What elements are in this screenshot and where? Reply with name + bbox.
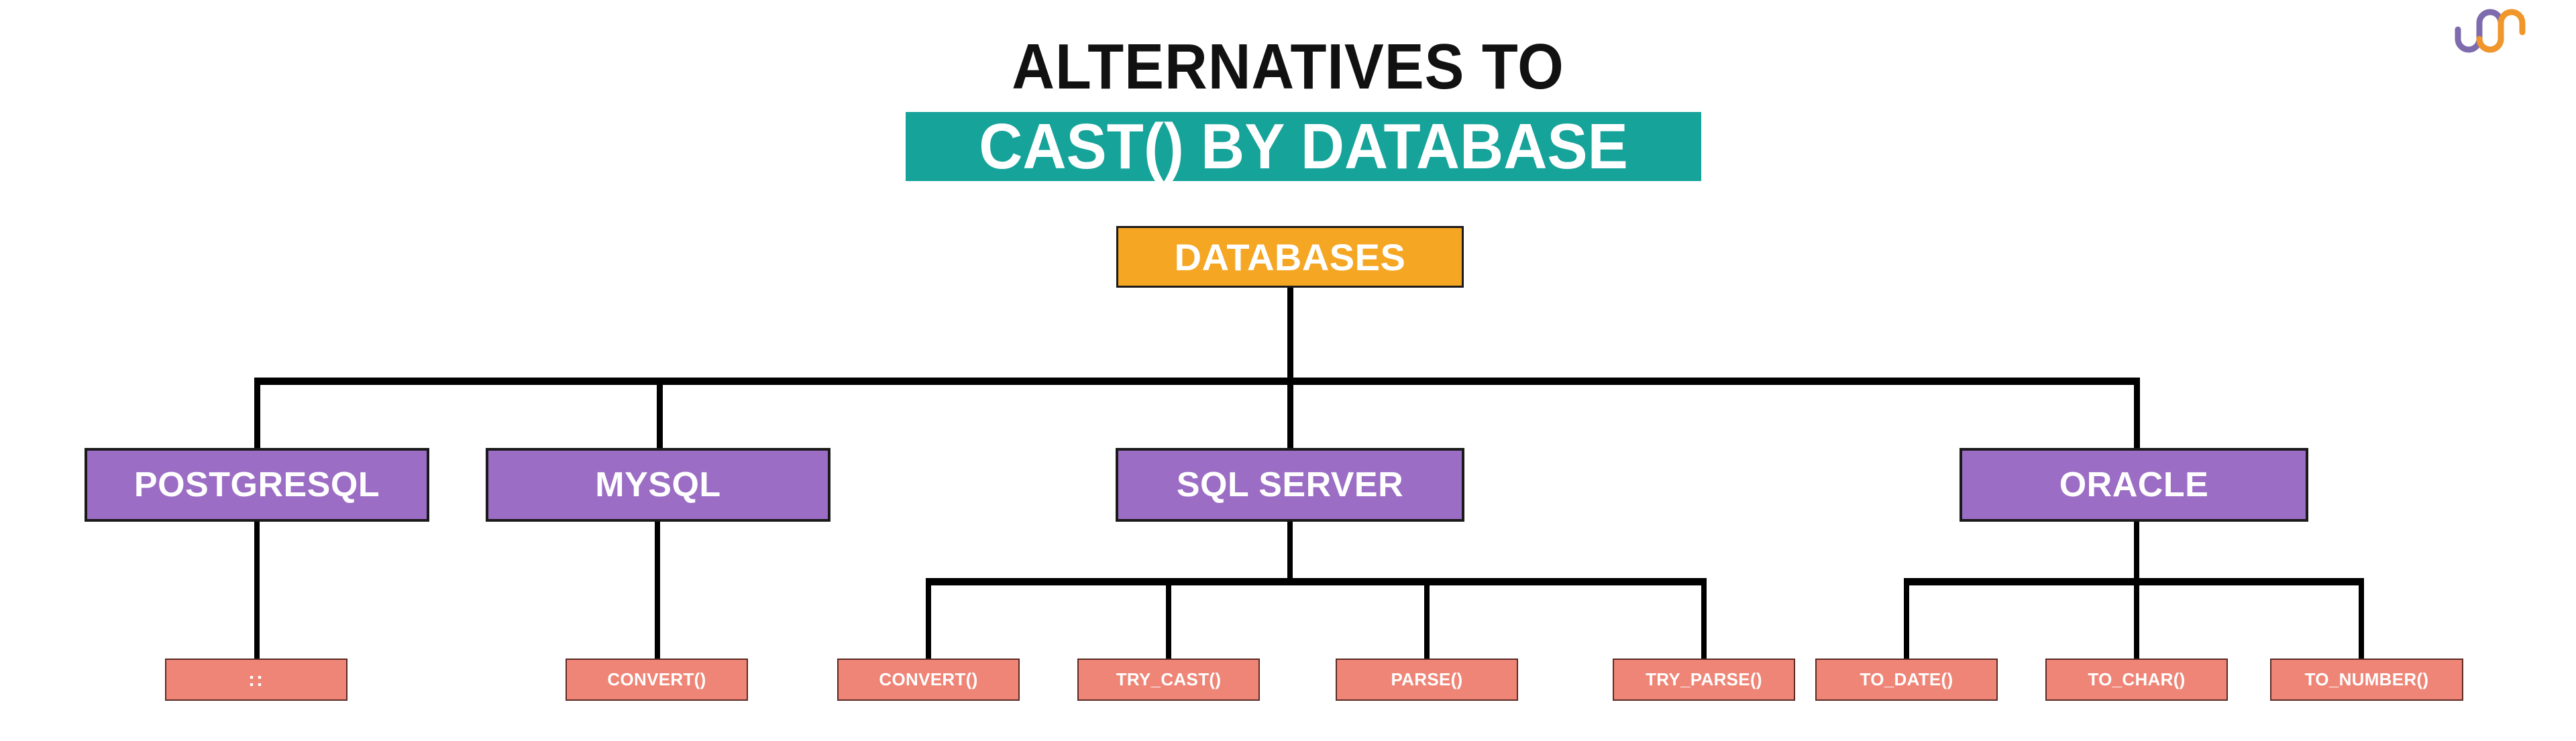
node-sqlserver[interactable]: SQL SERVER (1116, 448, 1464, 522)
node-databases[interactable]: DATABASES (1116, 226, 1464, 288)
connector-drop-oracle-to-number (2359, 578, 2364, 659)
connector-drop-mysql (657, 378, 663, 450)
node-postgresql[interactable]: POSTGRESQL (85, 448, 429, 522)
leaf-postgresql-cast-operator[interactable]: :: (165, 659, 347, 701)
leaf-sqlserver-try-cast-label: TRY_CAST() (1116, 669, 1222, 690)
connector-drop-postgresql (254, 378, 260, 450)
node-postgresql-label: POSTGRESQL (134, 465, 380, 505)
leaf-oracle-to-date[interactable]: TO_DATE() (1815, 659, 1998, 701)
node-oracle-label: ORACLE (2059, 465, 2209, 505)
node-oracle[interactable]: ORACLE (1960, 448, 2308, 522)
connector-drop-sqlserver (1287, 378, 1293, 450)
diagram-canvas: ALTERNATIVES TO CAST() BY DATABASE DATAB… (0, 0, 2576, 741)
leaf-sqlserver-parse[interactable]: PARSE() (1336, 659, 1518, 701)
leaf-oracle-to-char[interactable]: TO_CHAR() (2045, 659, 2228, 701)
connector-main-bus (257, 378, 2137, 385)
connector-root-stem (1287, 288, 1293, 382)
leaf-sqlserver-convert[interactable]: CONVERT() (837, 659, 1020, 701)
title-highlight-bar: CAST() BY DATABASE (906, 112, 1701, 181)
connector-drop-oracle-to-date (1904, 578, 1909, 659)
brand-logo-icon (2451, 7, 2526, 55)
leaf-mysql-convert[interactable]: CONVERT() (566, 659, 748, 701)
node-sqlserver-label: SQL SERVER (1177, 465, 1403, 505)
connector-drop-sqlserver-try-parse (1701, 578, 1707, 659)
node-mysql-label: MYSQL (595, 465, 720, 505)
connector-postgresql-to-cast-operator (254, 522, 260, 659)
leaf-sqlserver-convert-label: CONVERT() (879, 669, 977, 690)
leaf-oracle-to-number-label: TO_NUMBER() (2305, 669, 2429, 690)
leaf-sqlserver-parse-label: PARSE() (1391, 669, 1462, 690)
connector-sqlserver-stem (1287, 522, 1293, 583)
title-line-1: ALTERNATIVES TO (103, 35, 2473, 99)
leaf-mysql-convert-label: CONVERT() (607, 669, 706, 690)
connector-sqlserver-bus (928, 578, 1707, 585)
leaf-oracle-to-char-label: TO_CHAR() (2088, 669, 2185, 690)
connector-mysql-to-convert (655, 522, 660, 659)
title-line-2: CAST() BY DATABASE (930, 112, 1678, 181)
leaf-sqlserver-try-parse[interactable]: TRY_PARSE() (1613, 659, 1795, 701)
leaf-sqlserver-try-cast[interactable]: TRY_CAST() (1077, 659, 1260, 701)
connector-drop-sqlserver-try-cast (1166, 578, 1171, 659)
leaf-postgresql-cast-operator-label: :: (248, 669, 264, 691)
connector-drop-sqlserver-parse (1424, 578, 1430, 659)
connector-drop-oracle-to-char (2134, 578, 2139, 659)
leaf-oracle-to-number[interactable]: TO_NUMBER() (2270, 659, 2463, 701)
connector-oracle-stem (2134, 522, 2139, 583)
node-mysql[interactable]: MYSQL (486, 448, 830, 522)
connector-drop-sqlserver-convert (926, 578, 931, 659)
leaf-oracle-to-date-label: TO_DATE() (1860, 669, 1953, 690)
node-databases-label: DATABASES (1175, 235, 1406, 279)
leaf-sqlserver-try-parse-label: TRY_PARSE() (1646, 669, 1762, 690)
connector-drop-oracle (2134, 378, 2140, 450)
